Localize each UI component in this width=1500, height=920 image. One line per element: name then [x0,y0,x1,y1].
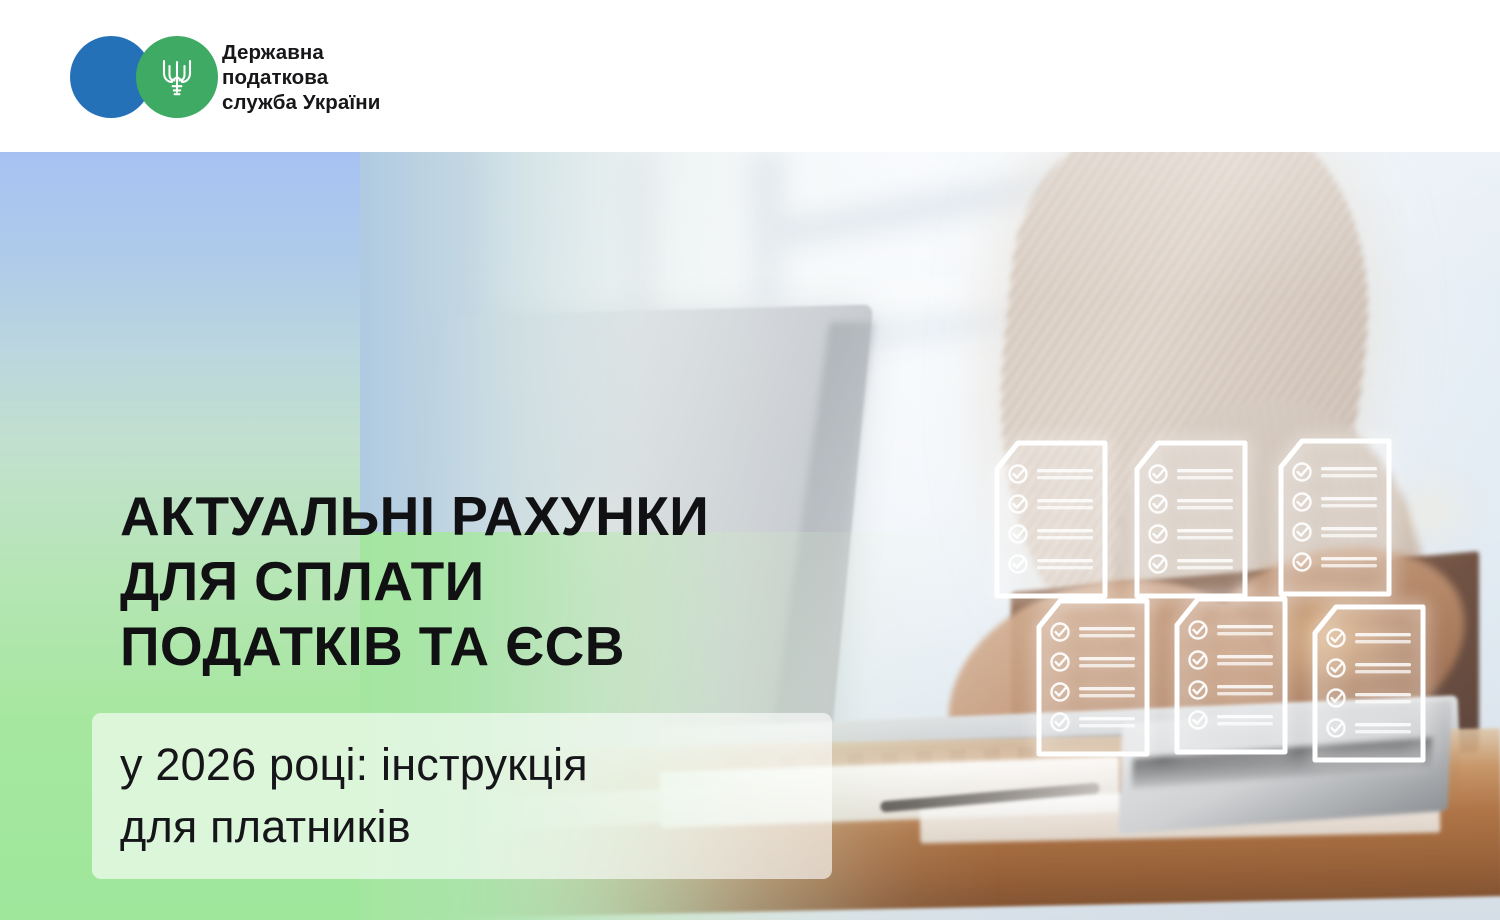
checklist-document-icon-4 [1034,598,1152,758]
checklist-document-icon-5 [1172,596,1290,756]
logo-marks [70,36,210,118]
page-title: АКТУАЛЬНІ РАХУНКИ ДЛЯ СПЛАТИ ПОДАТКІВ ТА… [120,484,709,679]
banner-root: Державна податкова служба України [0,0,1500,920]
organization-name: Державна податкова служба України [222,40,380,115]
hero-text-column: АКТУАЛЬНІ РАХУНКИ ДЛЯ СПЛАТИ ПОДАТКІВ ТА… [0,304,900,920]
dps-logo[interactable]: Державна податкова служба України [70,36,380,118]
green-circle-icon [136,36,218,118]
ukraine-trident-icon [160,55,194,99]
hero-section: АКТУАЛЬНІ РАХУНКИ ДЛЯ СПЛАТИ ПОДАТКІВ ТА… [0,152,1500,920]
site-header: Державна податкова служба України [0,0,1500,152]
checklist-document-icon-2 [1132,440,1250,600]
checklist-document-icon-1 [992,440,1110,600]
checklist-document-icon-6 [1310,604,1428,764]
page-subtitle: у 2026 році: інструкція для платників [120,734,588,858]
checklist-document-icon-3 [1276,438,1394,598]
